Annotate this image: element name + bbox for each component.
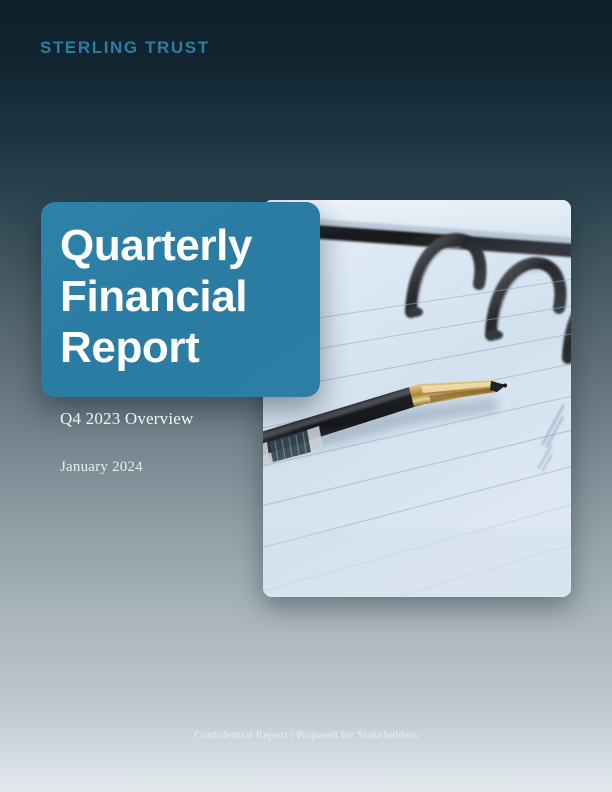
report-title-line-3: Report <box>60 322 306 373</box>
report-title-line-1: Quarterly <box>60 220 306 271</box>
report-date: January 2024 <box>60 459 143 476</box>
report-cover-page: STERLING TRUST <box>0 0 612 792</box>
brand-wordmark: STERLING TRUST <box>40 38 210 58</box>
page-footer: Confidential Report | Prepared for Stake… <box>0 729 612 741</box>
report-subtitle: Q4 2023 Overview <box>60 409 194 429</box>
report-title: Quarterly Financial Report <box>60 220 306 373</box>
title-card: Quarterly Financial Report <box>41 202 320 397</box>
report-title-line-2: Financial <box>60 271 306 322</box>
